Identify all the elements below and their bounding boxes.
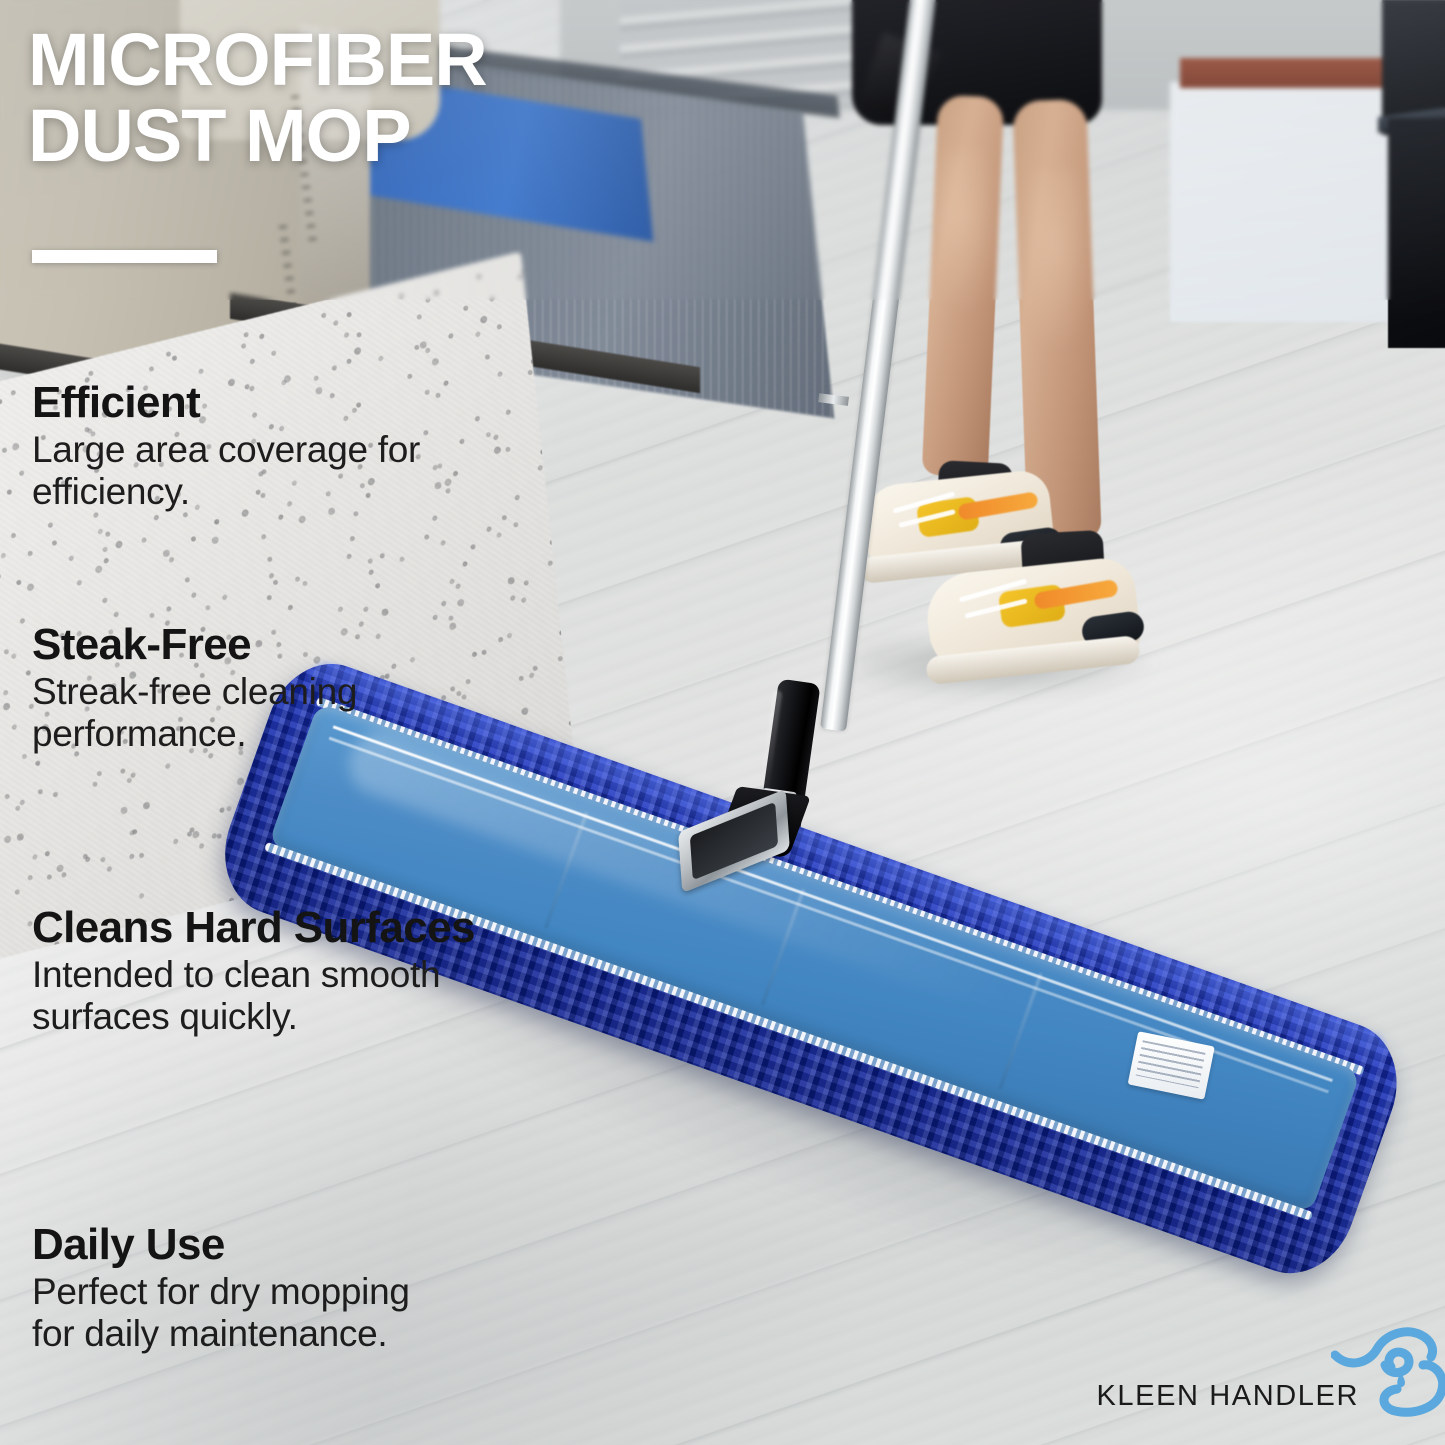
- title-line-1: MICROFIBER: [28, 22, 487, 98]
- feature-heading: Efficient: [32, 380, 502, 427]
- water-splash-icon: [1331, 1323, 1445, 1419]
- feature-block-streak-free: Steak-Free Streak-free cleaning performa…: [32, 622, 362, 755]
- feature-description: Perfect for dry mopping for daily mainte…: [32, 1271, 432, 1355]
- product-infographic: MICROFIBER DUST MOP Efficient Large area…: [0, 0, 1445, 1445]
- feature-heading: Cleans Hard Surfaces: [32, 905, 577, 952]
- feature-block-daily-use: Daily Use Perfect for dry mopping for da…: [32, 1222, 432, 1355]
- brand-logo: KLEEN HANDLER: [1096, 1380, 1359, 1413]
- feature-description: Large area coverage for efficiency.: [32, 429, 502, 513]
- feature-block-efficient: Efficient Large area coverage for effici…: [32, 380, 502, 513]
- text-overlay: MICROFIBER DUST MOP Efficient Large area…: [0, 0, 1445, 1445]
- feature-block-cleans-hard-surfaces: Cleans Hard Surfaces Intended to clean s…: [32, 905, 577, 1038]
- feature-description: Intended to clean smooth surfaces quickl…: [32, 954, 577, 1038]
- feature-description: Streak-free cleaning performance.: [32, 671, 362, 755]
- brand-name: KLEEN HANDLER: [1096, 1380, 1359, 1413]
- page-title: MICROFIBER DUST MOP: [28, 22, 487, 174]
- title-underline-rule: [32, 250, 217, 263]
- title-line-2: DUST MOP: [28, 98, 487, 174]
- feature-heading: Steak-Free: [32, 622, 362, 669]
- feature-heading: Daily Use: [32, 1222, 432, 1269]
